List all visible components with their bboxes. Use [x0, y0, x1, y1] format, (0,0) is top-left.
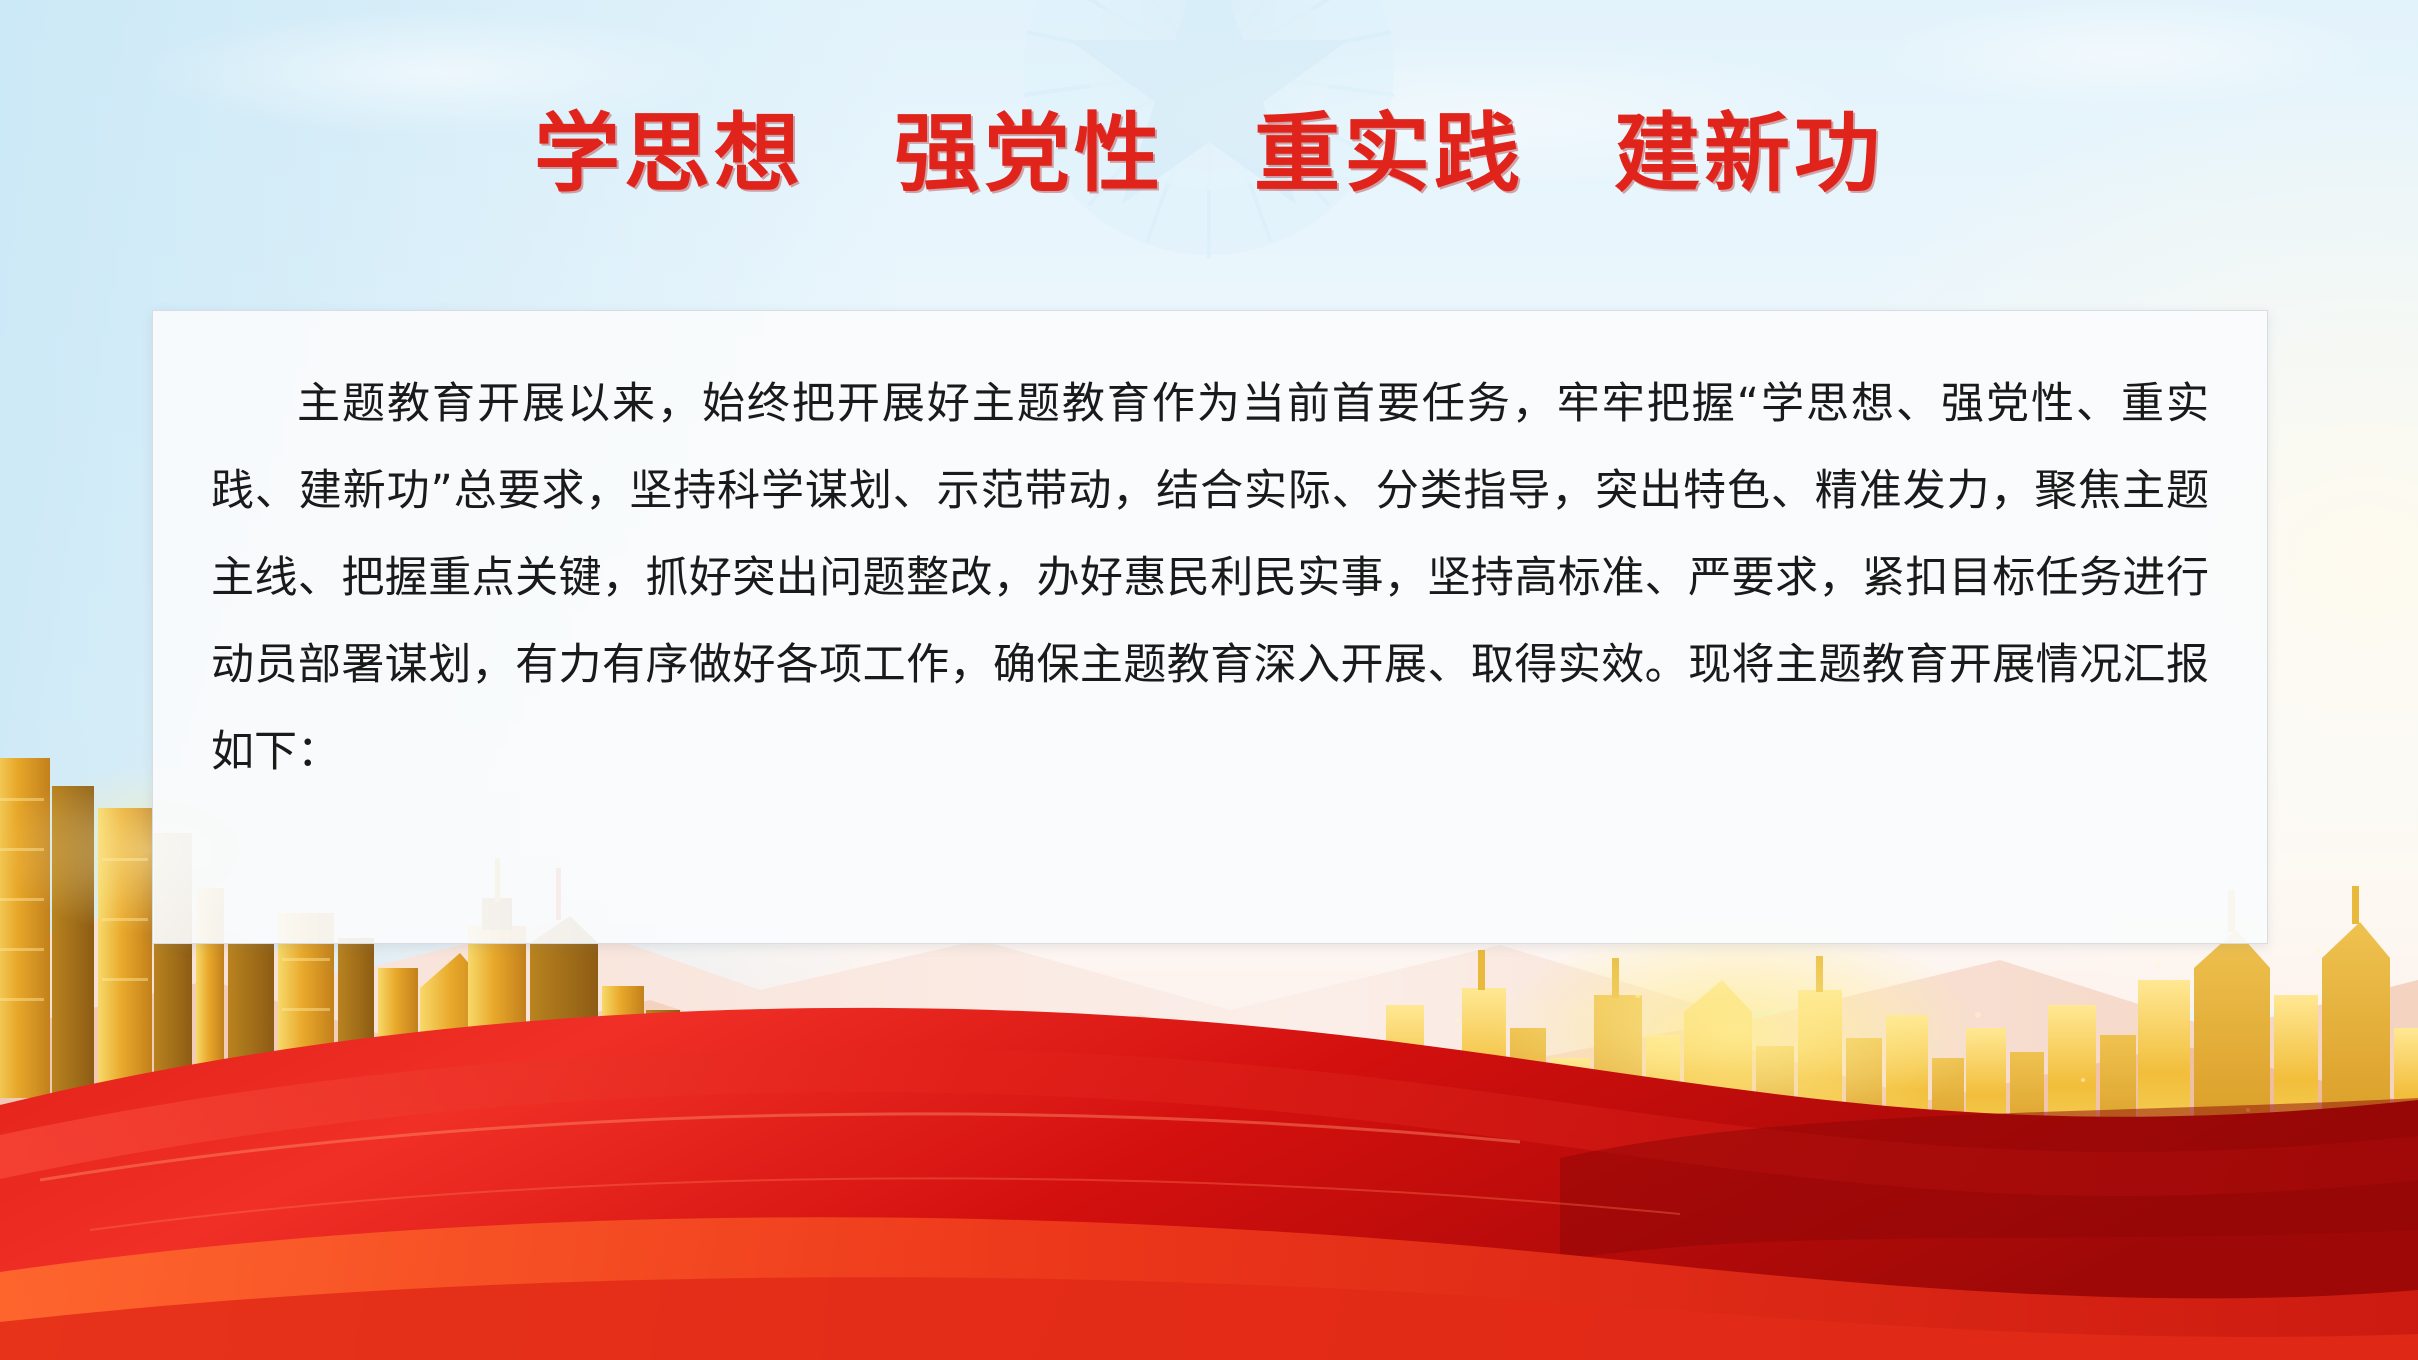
- content-card-inner: 主题教育开展以来，始终把开展好主题教育作为当前首要任务，牢牢把握“学思想、强党性…: [153, 311, 2267, 796]
- page-title: 学思想 强党性 重实践 建新功: [0, 105, 2418, 204]
- content-card: 主题教育开展以来，始终把开展好主题教育作为当前首要任务，牢牢把握“学思想、强党性…: [152, 310, 2268, 944]
- red-ribbon-wave: [0, 930, 2418, 1360]
- body-paragraph: 主题教育开展以来，始终把开展好主题教育作为当前首要任务，牢牢把握“学思想、强党性…: [211, 361, 2209, 796]
- poster-canvas: 学思想 强党性 重实践 建新功 主题教育开展以来，始终把开展好主题教育作为当前首…: [0, 0, 2418, 1360]
